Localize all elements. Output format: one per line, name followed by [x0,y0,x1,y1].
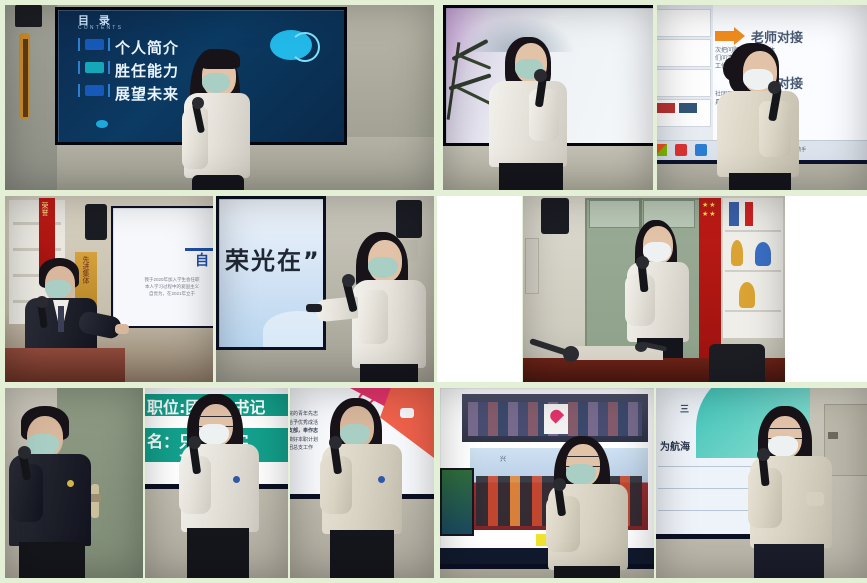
photo-collage: 目 录 CONTENTS 个人简介 胜任能力 展望未来 [0,0,867,583]
photo-middle-center: 荣光在” [216,196,434,382]
photo-middle-left: 荣誉 先进集体 自 我于2020年加入学生会任职本人学习过程中的爱国主义自觉为，… [5,196,213,382]
speaker-icon [15,5,42,27]
photo-top-right: 老师对接 次把问题、需求、具体们问清楚，争取不做二工作 社团对接 社团干部、需求… [657,5,867,190]
photo-bottom-third: 院的青年先志给予优秀成活支部，奉作志做好本职计划团总支工作 [290,388,434,578]
arrow-icon [734,27,745,45]
camera-icon [400,408,414,418]
photo-top-left: 目 录 CONTENTS 个人简介 胜任能力 展望未来 [5,5,434,190]
presentation-screen: 自 我于2020年加入学生会任职本人学习过程中的爱国主义自觉为，在2021年立于 [111,206,213,328]
photo-bottom-left [5,388,143,578]
photo-top-middle: 海 不积跬步无以至千里 不积不流 长：心理部部长 为：心理部副部长 [443,5,653,190]
collage-gap [437,196,522,382]
photo-middle-right: ★★ ★★ 不忘初心 牢记使命 [523,196,785,382]
photo-bottom-right: 三 为航海 [656,388,867,578]
photo-bottom-second: 职位:团总支书记 名：只有 现实 才 实。 [145,388,288,578]
collage-gap [785,196,867,382]
presentation-screen: 荣光在” [216,196,326,350]
arrow-icon [715,31,735,41]
slide-headline: 荣光在” [225,241,321,276]
photo-bottom-fourth: 兴 青年会干 [440,388,654,578]
